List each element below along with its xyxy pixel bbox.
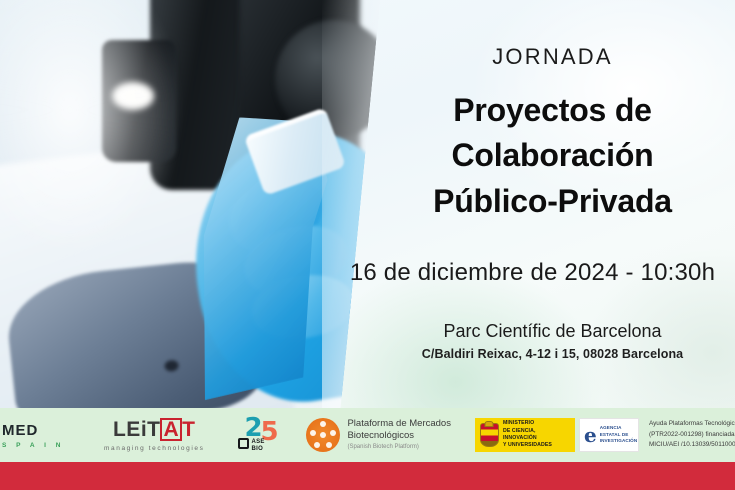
- asebio-logo: 2 5 ASE BIO: [238, 415, 284, 455]
- aei-wordmark: AGENCIA ESTATAL DE INVESTIGACIÓN: [600, 425, 638, 446]
- leitat-logo: LEiTAT managing technologies: [104, 418, 204, 453]
- ministerio-line-1: MINISTERIO: [503, 420, 570, 427]
- agencia-estatal-investigacion-logo: e AGENCIA ESTATAL DE INVESTIGACIÓN: [579, 418, 639, 452]
- leitat-tagline: managing technologies: [104, 445, 204, 452]
- event-kicker: JORNADA: [370, 44, 735, 70]
- funding-statement: Ayuda Plataformas Tecnológicas (PTR2022-…: [649, 419, 735, 451]
- bottom-red-bar: [0, 462, 735, 490]
- event-poster: JORNADA Proyectos de Colaboración Públic…: [0, 0, 735, 490]
- aei-white-box: e AGENCIA ESTATAL DE INVESTIGACIÓN: [579, 418, 639, 452]
- funding-text: Ayuda Plataformas Tecnológicas (PTR2022-…: [649, 419, 735, 451]
- leitat-word-pre: LEiT: [113, 418, 161, 441]
- funding-line-1: Ayuda Plataformas Tecnológicas: [649, 419, 735, 430]
- aei-line-1: AGENCIA: [600, 425, 638, 432]
- plataforma-mercados-biotecnologicos-logo: Plataforma de Mercados Biotecnológicos (…: [306, 418, 451, 452]
- poster-text-column: JORNADA Proyectos de Colaboración Públic…: [370, 0, 735, 412]
- aei-monogram-icon: e: [584, 425, 597, 445]
- event-title: Proyectos de Colaboración Público-Privad…: [370, 88, 735, 224]
- ministerio-line-2: DE CIENCIA, INNOVACIÓN: [503, 428, 570, 443]
- asebio-wordmark: ASE BIO: [251, 439, 264, 452]
- event-title-line-2: Colaboración: [370, 133, 735, 178]
- event-datetime: 16 de diciembre de 2024 - 10:30h: [330, 259, 735, 287]
- plataforma-network-icon: [306, 418, 340, 452]
- laboratory-photo: [0, 0, 380, 412]
- leitat-wordmark: LEiTAT: [113, 418, 196, 442]
- event-title-line-3: Público-Privada: [370, 179, 735, 224]
- biomed-logo-row: MED: [0, 422, 38, 439]
- event-address: C/Baldiri Reixac, 4-12 i 15, 08028 Barce…: [370, 347, 735, 361]
- biomed-wordmark: MED: [2, 422, 38, 439]
- plataforma-line-1: Plataforma de Mercados: [347, 418, 451, 430]
- plataforma-wordmark: Plataforma de Mercados Biotecnológicos (…: [347, 418, 451, 451]
- aei-line-3: INVESTIGACIÓN: [600, 438, 638, 445]
- plataforma-line-3: (Spanish Biotech Platform): [347, 444, 451, 452]
- asebio-name-line-1: ASE: [251, 439, 264, 445]
- plataforma-line-2: Biotecnológicos: [347, 430, 451, 442]
- biomed-subtitle: S P A I N: [2, 442, 65, 449]
- photo-highlight-glare: [0, 0, 180, 260]
- leitat-word-post: T: [182, 418, 195, 441]
- event-title-line-1: Proyectos de: [370, 88, 735, 133]
- ministerio-ciencia-logo: MINISTERIO DE CIENCIA, INNOVACIÓN Y UNIV…: [475, 418, 575, 452]
- asebio-name-line-2: BIO: [251, 446, 263, 452]
- leitat-word-box: A: [160, 418, 182, 442]
- spain-coat-of-arms-icon: [480, 423, 499, 447]
- sponsor-logo-bar: MED S P A I N LEiTAT managing technologi…: [0, 408, 735, 462]
- biomed-spain-logo: MED S P A I N: [0, 422, 78, 449]
- ministerio-line-3: Y UNIVERSIDADES: [503, 442, 570, 449]
- asebio-square-icon: [238, 438, 249, 449]
- event-venue: Parc Científic de Barcelona: [370, 321, 735, 342]
- funding-line-2: (PTR2022-001298) financiada por: [649, 430, 735, 441]
- ministerio-yellow-box: MINISTERIO DE CIENCIA, INNOVACIÓN Y UNIV…: [475, 418, 575, 452]
- ministerio-wordmark: MINISTERIO DE CIENCIA, INNOVACIÓN Y UNIV…: [503, 420, 570, 450]
- funding-line-3: MICIU/AEI /10.13039/501100011033: [649, 440, 735, 451]
